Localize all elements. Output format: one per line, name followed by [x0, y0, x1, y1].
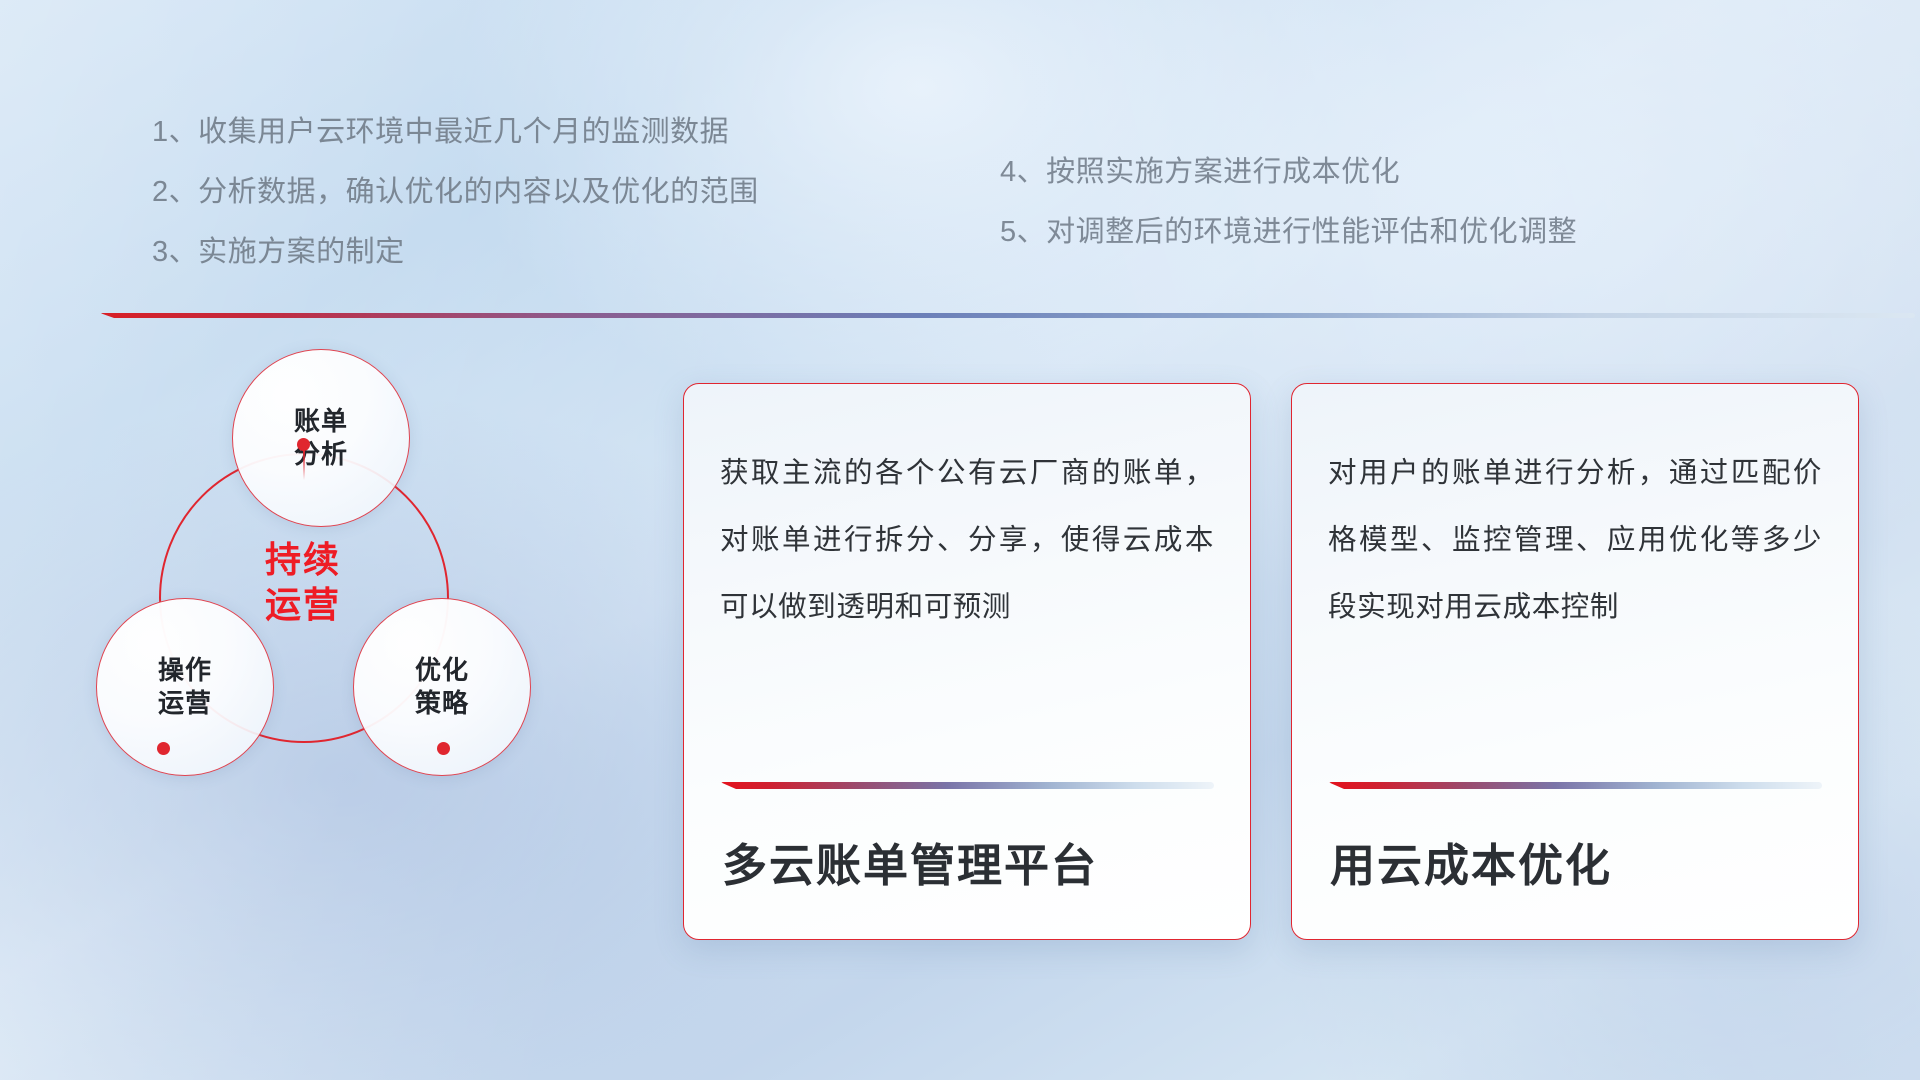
- venn-node-dot-top: [297, 438, 310, 451]
- step-item-4: 4、按照实施方案进行成本优化: [1000, 158, 1577, 187]
- card-2-body-text: 对用户的账单进行分析，通过匹配价格模型、监控管理、应用优化等多少段实现对用云成本…: [1328, 440, 1822, 641]
- venn-circle-bottom-left[interactable]: 操作 运营: [96, 598, 274, 776]
- venn-circle-right-line2: 策略: [415, 688, 469, 718]
- card-2-title: 用云成本优化: [1328, 789, 1822, 939]
- venn-node-dot-right: [437, 742, 450, 755]
- venn-circle-top[interactable]: 账单 分析: [232, 349, 410, 527]
- venn-circle-top-line1: 账单: [294, 406, 348, 436]
- step-item-3: 3、实施方案的制定: [152, 238, 759, 267]
- venn-circle-right-line1: 优化: [415, 655, 469, 685]
- card-1-title: 多云账单管理平台: [720, 789, 1214, 939]
- header-divider-rule: [100, 313, 1915, 318]
- venn-node-dot-left: [157, 742, 170, 755]
- venn-center-label-line1: 持续: [203, 538, 403, 583]
- venn-circle-left-line1: 操作: [158, 655, 212, 685]
- venn-circle-left-line2: 运营: [158, 688, 212, 718]
- steps-right-column: 4、按照实施方案进行成本优化 5、对调整后的环境进行性能评估和优化调整: [1000, 158, 1577, 278]
- card-1-body-text: 获取主流的各个公有云厂商的账单，对账单进行拆分、分享，使得云成本可以做到透明和可…: [720, 440, 1214, 641]
- card-1-divider-rule: [720, 782, 1214, 789]
- venn-connector-stem-top: [303, 450, 305, 480]
- steps-left-column: 1、收集用户云环境中最近几个月的监测数据 2、分析数据，确认优化的内容以及优化的…: [152, 118, 759, 298]
- venn-diagram: 持续 运营 账单 分析 操作 运营 优化 策略: [95, 355, 615, 915]
- step-item-2: 2、分析数据，确认优化的内容以及优化的范围: [152, 178, 759, 207]
- card-2-divider-rule: [1328, 782, 1822, 789]
- step-item-5: 5、对调整后的环境进行性能评估和优化调整: [1000, 218, 1577, 247]
- step-item-1: 1、收集用户云环境中最近几个月的监测数据: [152, 118, 759, 147]
- info-card-cost-optimization[interactable]: 对用户的账单进行分析，通过匹配价格模型、监控管理、应用优化等多少段实现对用云成本…: [1291, 383, 1859, 940]
- info-card-billing-platform[interactable]: 获取主流的各个公有云厂商的账单，对账单进行拆分、分享，使得云成本可以做到透明和可…: [683, 383, 1251, 940]
